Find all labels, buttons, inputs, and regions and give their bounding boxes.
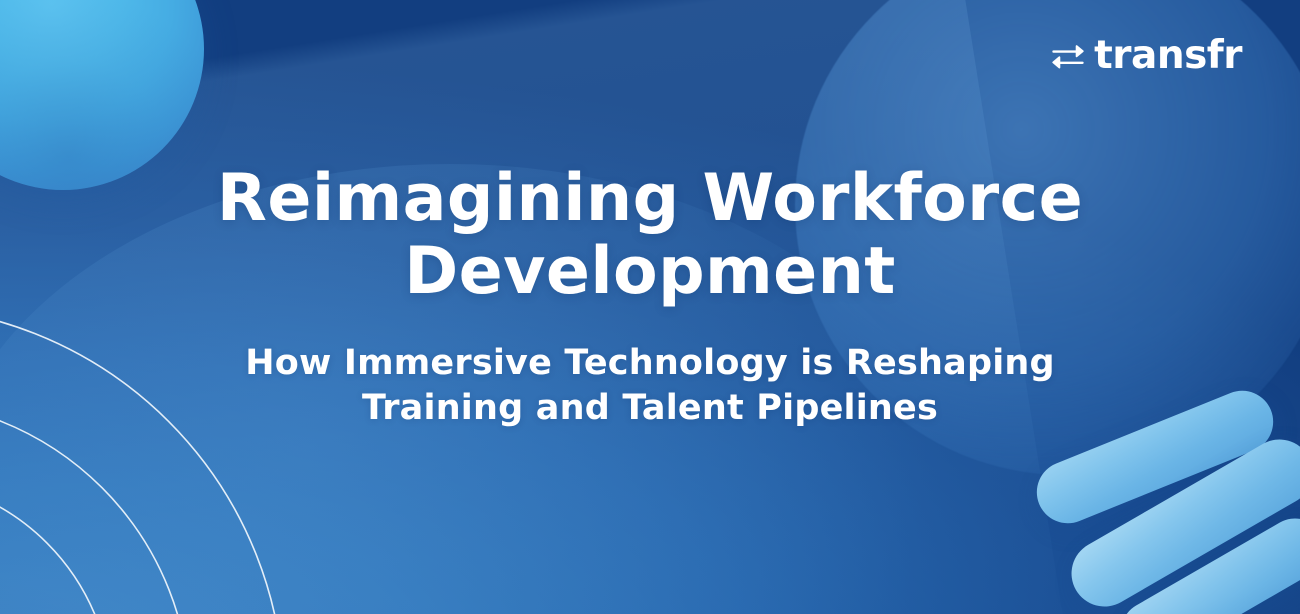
hero-banner: transfr Reimagining Workforce Developmen… bbox=[0, 0, 1300, 614]
subtitle-line-1: How Immersive Technology is Reshaping bbox=[70, 341, 1230, 387]
transfer-arrows-icon bbox=[1051, 42, 1085, 70]
transfr-logo[interactable]: transfr bbox=[1051, 36, 1242, 75]
hero-text-block: Reimagining Workforce Development How Im… bbox=[0, 163, 1300, 432]
logo-wordmark: transfr bbox=[1094, 36, 1242, 75]
subtitle-line-2: Training and Talent Pipelines bbox=[70, 386, 1230, 432]
page-subtitle: How Immersive Technology is Reshaping Tr… bbox=[70, 341, 1230, 432]
page-title: Reimagining Workforce Development bbox=[70, 163, 1230, 309]
